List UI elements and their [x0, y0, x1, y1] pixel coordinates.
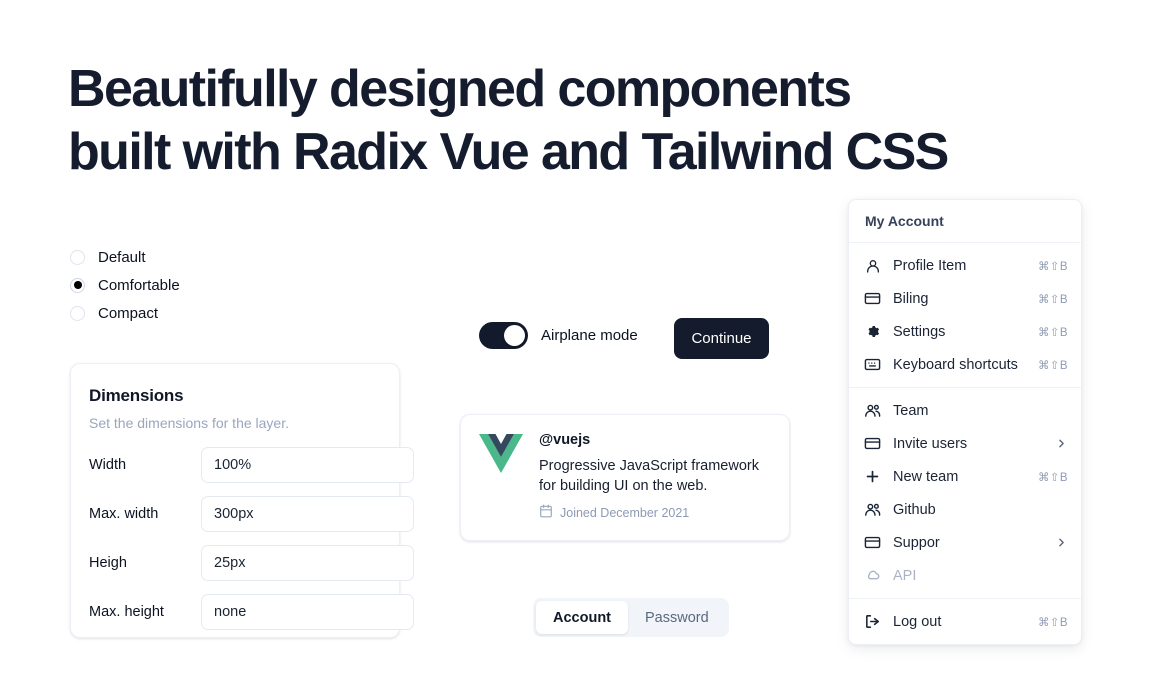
radio-option-label: Compact — [98, 306, 158, 321]
menu-item-new-team[interactable]: New team⌘⇧B — [849, 460, 1081, 493]
page-title: Beautifully designed components built wi… — [68, 58, 1028, 184]
menu-item-suppor[interactable]: Suppor — [849, 526, 1081, 559]
toggle-knob — [504, 325, 525, 346]
page-title-line-2: built with Radix Vue and Tailwind CSS — [68, 121, 1028, 184]
credit-card-icon — [864, 534, 881, 551]
vuejs-description: Progressive JavaScript framework for bui… — [539, 456, 771, 496]
menu-item-label: Biling — [893, 291, 1038, 307]
menu-item-profile-item[interactable]: Profile Item⌘⇧B — [849, 249, 1081, 282]
dimension-input-heigh[interactable] — [201, 545, 414, 581]
radio-option-compact[interactable]: Compact — [70, 304, 180, 322]
radio-option-comfortable[interactable]: Comfortable — [70, 276, 180, 294]
dimension-row: Max. width — [89, 496, 381, 532]
keyboard-icon — [864, 356, 881, 373]
continue-button[interactable]: Continue — [674, 318, 769, 359]
menu-item-api: API — [849, 559, 1081, 592]
airplane-mode-label: Airplane mode — [541, 327, 638, 344]
dimensions-fields: WidthMax. widthHeighMax. height — [89, 447, 381, 630]
dimensions-subtitle: Set the dimensions for the layer. — [89, 415, 381, 431]
account-tabs[interactable]: AccountPassword — [533, 598, 729, 637]
user-icon — [864, 257, 881, 274]
radio-option-default[interactable]: Default — [70, 248, 180, 266]
radio-group[interactable]: DefaultComfortableCompact — [70, 248, 180, 322]
menu-item-label: Team — [893, 403, 1068, 419]
menu-item-keyboard-shortcuts[interactable]: Keyboard shortcuts⌘⇧B — [849, 348, 1081, 381]
cloud-icon — [864, 567, 881, 584]
vuejs-handle: @vuejs — [539, 432, 771, 448]
radio-indicator[interactable] — [70, 250, 85, 265]
dimension-row: Max. height — [89, 594, 381, 630]
menu-header: My Account — [849, 200, 1081, 242]
dimension-input-max-width[interactable] — [201, 496, 414, 532]
menu-group: Log out⌘⇧B — [849, 599, 1081, 644]
menu-item-shortcut: ⌘⇧B — [1038, 615, 1068, 629]
menu-item-biling[interactable]: Biling⌘⇧B — [849, 282, 1081, 315]
plus-icon — [864, 468, 881, 485]
menu-item-label: Github — [893, 502, 1068, 518]
menu-item-shortcut: ⌘⇧B — [1038, 325, 1068, 339]
radio-option-label: Default — [98, 250, 146, 265]
menu-item-github[interactable]: Github — [849, 493, 1081, 526]
account-dropdown-menu[interactable]: My Account Profile Item⌘⇧BBiling⌘⇧BSetti… — [848, 199, 1082, 645]
airplane-mode-toggle[interactable] — [479, 322, 528, 349]
dimension-row: Width — [89, 447, 381, 483]
page-title-line-1: Beautifully designed components — [68, 58, 1028, 121]
dimensions-title: Dimensions — [89, 386, 381, 406]
menu-item-label: Profile Item — [893, 258, 1038, 274]
dimension-label-max-height: Max. height — [89, 604, 201, 620]
menu-item-shortcut: ⌘⇧B — [1038, 470, 1068, 484]
gear-icon — [864, 323, 881, 340]
radio-indicator[interactable] — [70, 306, 85, 321]
radio-option-label: Comfortable — [98, 278, 180, 293]
logout-icon — [864, 613, 881, 630]
menu-item-shortcut: ⌘⇧B — [1038, 292, 1068, 306]
menu-group: Profile Item⌘⇧BBiling⌘⇧BSettings⌘⇧BKeybo… — [849, 243, 1081, 387]
menu-item-label: Keyboard shortcuts — [893, 357, 1038, 373]
menu-item-log-out[interactable]: Log out⌘⇧B — [849, 605, 1081, 638]
menu-item-label: Log out — [893, 614, 1038, 630]
menu-item-label: API — [893, 568, 1068, 584]
dimension-input-width[interactable] — [201, 447, 414, 483]
dimension-label-heigh: Heigh — [89, 555, 201, 571]
dimension-label-max-width: Max. width — [89, 506, 201, 522]
chevron-right-icon — [1055, 536, 1068, 549]
tab-password[interactable]: Password — [628, 601, 726, 634]
menu-item-shortcut: ⌘⇧B — [1038, 358, 1068, 372]
dimension-label-width: Width — [89, 457, 201, 473]
users-icon — [864, 402, 881, 419]
radio-indicator[interactable] — [70, 278, 85, 293]
chevron-right-icon — [1055, 437, 1068, 450]
menu-item-team[interactable]: Team — [849, 394, 1081, 427]
menu-groups: Profile Item⌘⇧BBiling⌘⇧BSettings⌘⇧BKeybo… — [849, 243, 1081, 644]
vuejs-hover-card: @vuejs Progressive JavaScript framework … — [460, 414, 790, 541]
dimensions-card: Dimensions Set the dimensions for the la… — [70, 363, 400, 638]
menu-item-label: Suppor — [893, 535, 1055, 551]
credit-card-icon — [864, 435, 881, 452]
credit-card-icon — [864, 290, 881, 307]
menu-item-shortcut: ⌘⇧B — [1038, 259, 1068, 273]
menu-item-label: New team — [893, 469, 1038, 485]
menu-item-label: Invite users — [893, 436, 1055, 452]
users-icon — [864, 501, 881, 518]
dimension-row: Heigh — [89, 545, 381, 581]
menu-item-label: Settings — [893, 324, 1038, 340]
menu-item-invite-users[interactable]: Invite users — [849, 427, 1081, 460]
airplane-mode-row[interactable]: Airplane mode — [479, 322, 638, 349]
menu-item-settings[interactable]: Settings⌘⇧B — [849, 315, 1081, 348]
dimension-input-max-height[interactable] — [201, 594, 414, 630]
vuejs-joined-row: Joined December 2021 — [539, 504, 771, 521]
vue-logo-icon — [479, 434, 523, 474]
tab-account[interactable]: Account — [536, 601, 628, 634]
menu-group: TeamInvite usersNew team⌘⇧BGithubSupporA… — [849, 388, 1081, 598]
calendar-icon — [539, 504, 553, 521]
vuejs-joined-label: Joined December 2021 — [560, 506, 689, 520]
